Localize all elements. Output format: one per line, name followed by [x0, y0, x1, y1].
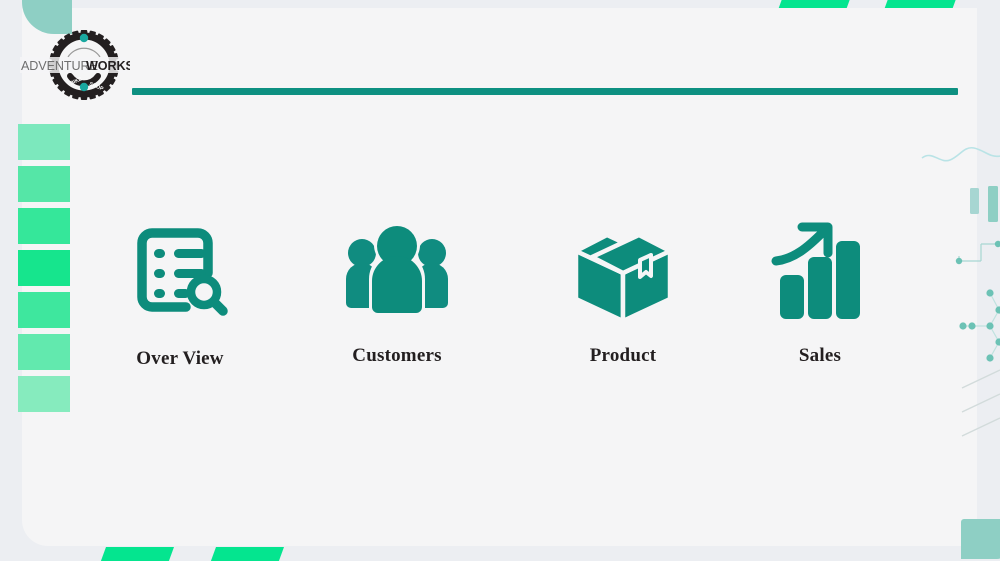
decor-stripe-4	[18, 250, 70, 286]
bar-chart-arrow-up-icon	[720, 210, 920, 335]
vertical-bar-2	[988, 186, 998, 222]
hub-bottom-icon	[80, 83, 88, 91]
people-group-icon	[297, 210, 497, 335]
corner-graph-icon	[959, 244, 999, 261]
decor-bottom-stripe-2	[208, 547, 284, 561]
nav-tile-sales[interactable]: Sales	[720, 210, 920, 395]
hub-top-icon	[80, 34, 88, 42]
node-network-icon	[963, 293, 999, 358]
slide-canvas: BIKE SHOP ADVENTURE WORKS	[0, 0, 1000, 561]
decor-stripe-5	[18, 292, 70, 328]
decor-stripe-2	[18, 166, 70, 202]
package-box-icon	[523, 210, 723, 335]
wave-line-icon	[922, 148, 1000, 161]
decor-stripe-column	[18, 124, 70, 416]
decor-stripe-7	[18, 376, 70, 412]
document-list-search-icon	[80, 210, 280, 332]
diagonal-lines-icon	[962, 370, 1000, 436]
nav-tile-label: Sales	[720, 345, 920, 367]
decor-top-stripe-2	[885, 0, 960, 8]
decor-stripe-3	[18, 208, 70, 244]
corner-accent-bottom-right	[961, 519, 1000, 559]
nav-tile-product[interactable]: Product	[523, 210, 723, 395]
header-divider	[132, 88, 958, 95]
navigation-tiles: Over View	[80, 210, 940, 395]
adventureworks-logo: BIKE SHOP ADVENTURE WORKS	[14, 28, 130, 102]
decor-bottom-stripe-1	[98, 547, 174, 561]
decor-stripe-1	[18, 124, 70, 160]
decor-stripe-6	[18, 334, 70, 370]
vertical-bar-1	[970, 188, 979, 214]
logo-word-right: WORKS	[86, 59, 130, 73]
nav-tile-label: Over View	[80, 348, 280, 370]
nav-tile-customers[interactable]: Customers	[297, 210, 497, 395]
nav-tile-label: Product	[523, 345, 723, 367]
nav-tile-label: Customers	[297, 345, 497, 367]
nav-tile-overview[interactable]: Over View	[80, 210, 280, 395]
slide-header: BIKE SHOP ADVENTURE WORKS	[0, 28, 1000, 102]
decor-top-stripe-1	[779, 0, 854, 8]
